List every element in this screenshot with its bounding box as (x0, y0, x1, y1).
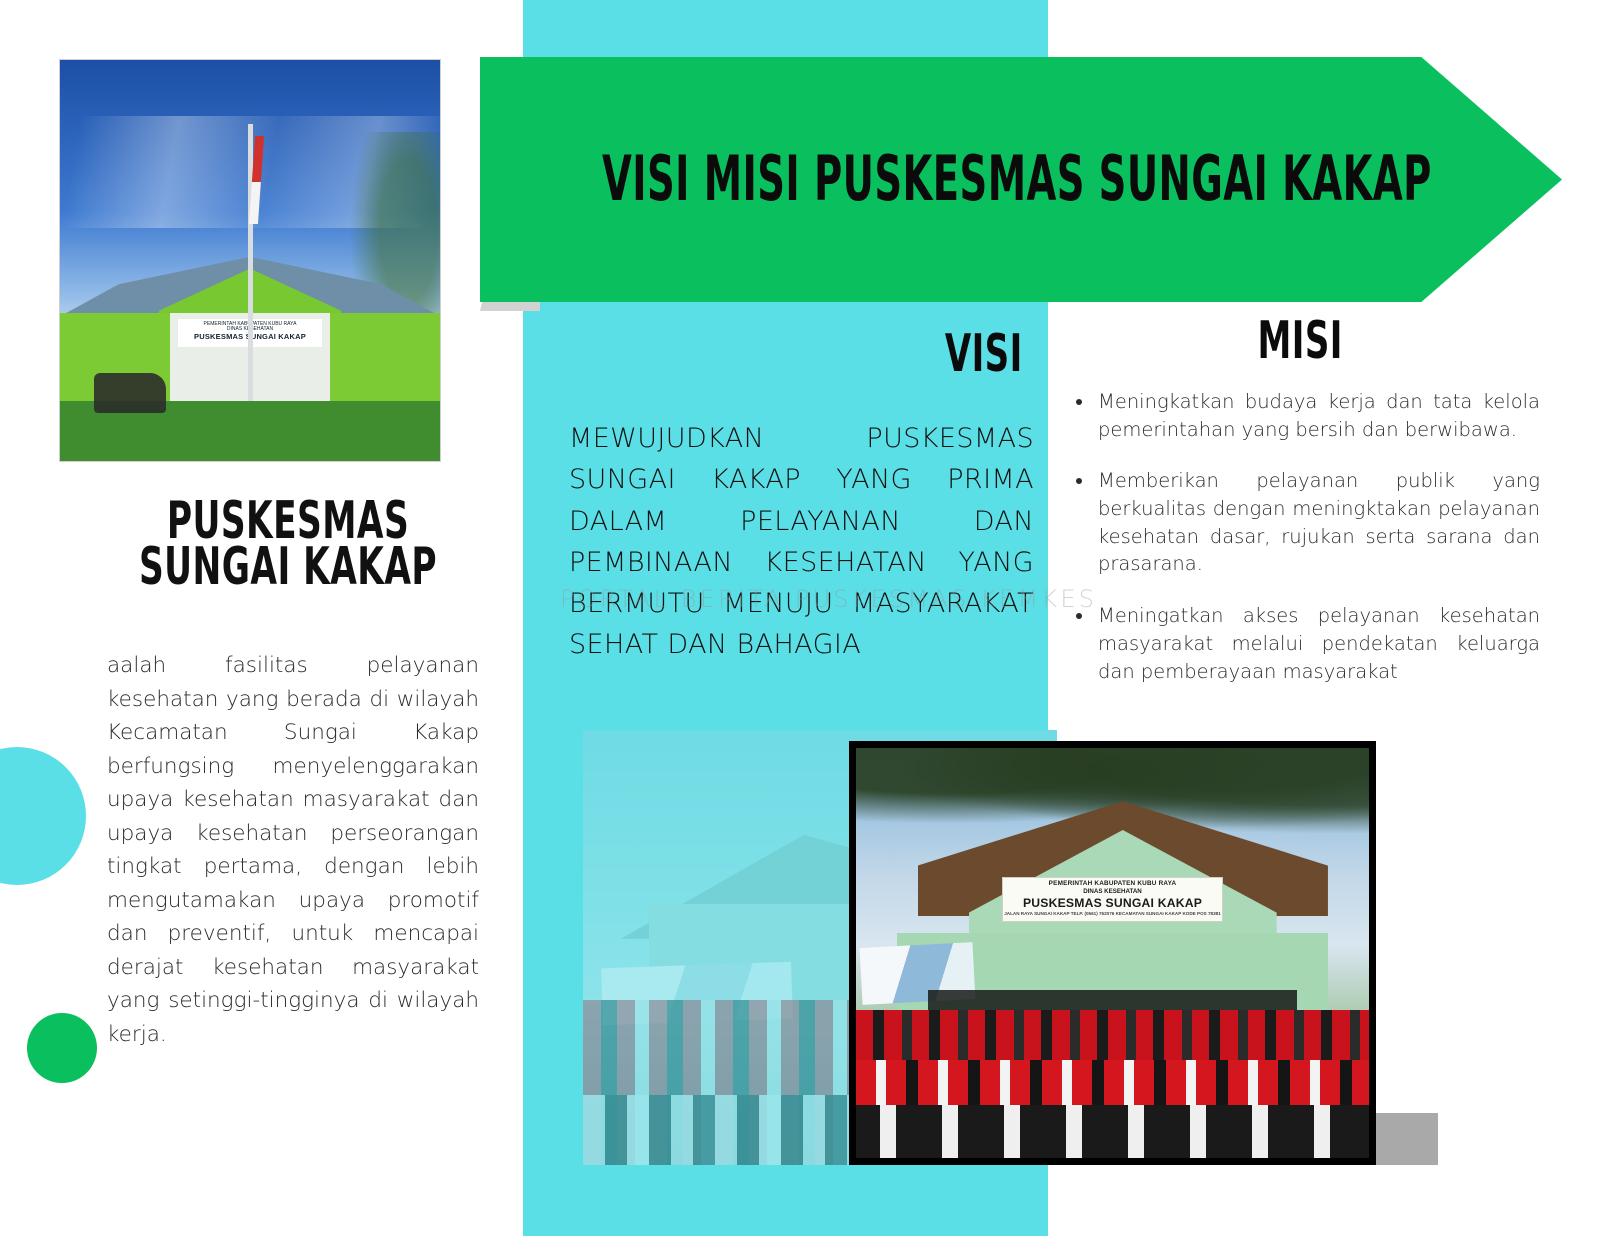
visi-heading: VISI (568, 331, 1030, 377)
faded-photo-banner (601, 962, 792, 1025)
misi-item: Meningkatkan budaya kerja dan tata kelol… (1070, 388, 1540, 443)
main-sign-line3: PUSKESMAS SUNGAI KAKAP (1003, 896, 1222, 910)
decorative-teal-circle (0, 747, 86, 885)
main-photo-building-sign: PEMERINTAH KABUPATEN KUBU RAYA DINAS KES… (1002, 877, 1223, 922)
poster-canvas: PEMERINTAH KABUPATEN KUBU RAYA DINAS KES… (0, 0, 1600, 1236)
main-sign-line1: PEMERINTAH KABUPATEN KUBU RAYA (1003, 880, 1222, 888)
main-photo-front-row (856, 1105, 1369, 1158)
intro-paragraph: aalah fasilitas pelayanan kesehatan yang… (107, 649, 479, 1051)
misi-heading: MISI (1060, 318, 1540, 364)
page-title: PUSKESMAS SUNGAI KAKAP (88, 498, 488, 591)
header-banner: VISI MISI PUSKESMAS SUNGAI KAKAP (480, 57, 1562, 302)
banner-title: VISI MISI PUSKESMAS SUNGAI KAKAP (602, 143, 1432, 216)
decorative-green-circle (27, 1013, 97, 1083)
misi-item: Meningatkan akses pelayanan kesehatan ma… (1070, 602, 1540, 685)
misi-list: Meningkatkan budaya kerja dan tata kelol… (1070, 388, 1540, 709)
visi-statement: MEWUJUDKAN PUSKESMAS SUNGAI KAKAP YANG P… (569, 418, 1034, 666)
photo-motorbike (94, 373, 166, 413)
misi-item: Memberikan pelayanan publik yang berkual… (1070, 467, 1540, 578)
staff-group-photo-main: PEMERINTAH KABUPATEN KUBU RAYA DINAS KES… (849, 741, 1376, 1165)
misi-heading-text: MISI (1257, 311, 1342, 371)
puskesmas-building-photo: PEMERINTAH KABUPATEN KUBU RAYA DINAS KES… (59, 59, 441, 462)
main-sign-line4: JALAN RAYA SUNGAI KAKAP TELP. (0561) 762… (1003, 911, 1222, 916)
page-title-line2: SUNGAI KAKAP (116, 537, 460, 597)
visi-heading-text: VISI (945, 324, 1023, 384)
main-sign-line2: DINAS KESEHATAN (1003, 888, 1222, 895)
main-photo-shadow (1376, 1113, 1438, 1165)
